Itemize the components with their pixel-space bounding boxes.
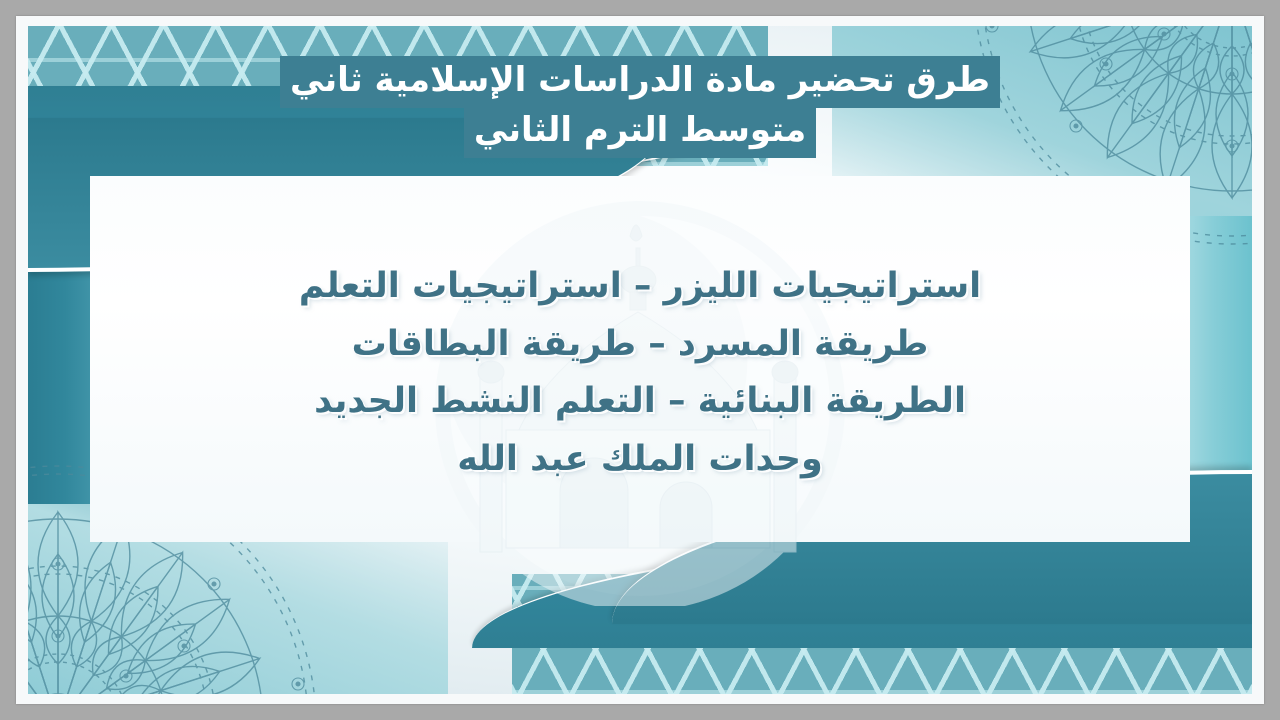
slide-canvas: طرق تحضير مادة الدراسات الإسلامية ثاني م…	[0, 0, 1280, 720]
body-line-1: استراتيجيات الليزر – استراتيجيات التعلم	[98, 262, 1182, 312]
slide-body: استراتيجيات الليزر – استراتيجيات التعلم …	[98, 262, 1182, 493]
title-line-1: طرق تحضير مادة الدراسات الإسلامية ثاني	[28, 56, 1252, 108]
title-line-1-text: طرق تحضير مادة الدراسات الإسلامية ثاني	[280, 56, 1000, 108]
body-line-3: الطريقة البنائية – التعلم النشط الجديد	[98, 377, 1182, 427]
body-line-4: وحدات الملك عبد الله	[98, 435, 1182, 485]
title-line-2: متوسط الترم الثاني	[28, 106, 1252, 158]
title-line-2-text: متوسط الترم الثاني	[464, 106, 816, 158]
slide-title: طرق تحضير مادة الدراسات الإسلامية ثاني م…	[28, 56, 1252, 158]
slide-content-area: طرق تحضير مادة الدراسات الإسلامية ثاني م…	[28, 26, 1252, 694]
body-line-2: طريقة المسرد – طريقة البطاقات	[98, 320, 1182, 370]
